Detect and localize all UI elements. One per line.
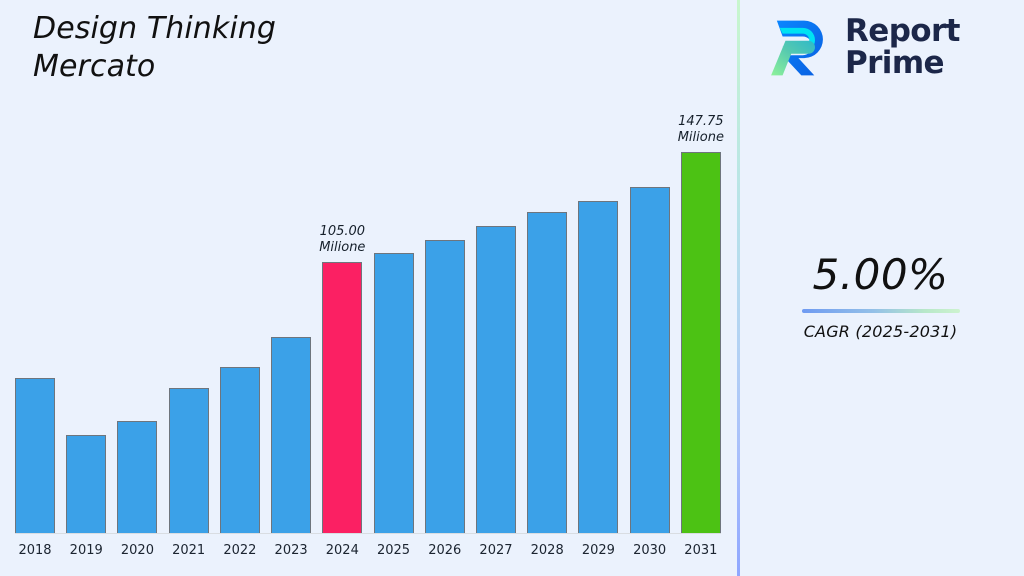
cagr-block: 5.00% CAGR (2025-2031) bbox=[737, 252, 1024, 341]
bar-2031[interactable] bbox=[681, 152, 721, 533]
x-tick-2023: 2023 bbox=[271, 537, 311, 565]
x-tick-2029: 2029 bbox=[578, 537, 618, 565]
x-tick-2020: 2020 bbox=[117, 537, 157, 565]
bar-2018[interactable] bbox=[15, 378, 55, 533]
brand-name: Report Prime bbox=[845, 16, 960, 80]
bar-slot bbox=[117, 120, 157, 533]
bar-slot bbox=[578, 120, 618, 533]
x-tick-2028: 2028 bbox=[527, 537, 567, 565]
bar-value-unit: Milione bbox=[319, 240, 365, 256]
bar-slot bbox=[476, 120, 516, 533]
bar-value-label: 147.75Milione bbox=[678, 114, 724, 146]
bar-2019[interactable] bbox=[66, 435, 106, 533]
cagr-caption: CAGR (2025-2031) bbox=[737, 322, 1024, 341]
x-tick-2021: 2021 bbox=[169, 537, 209, 565]
bar-2028[interactable] bbox=[527, 212, 567, 533]
bar-2026[interactable] bbox=[425, 240, 465, 533]
x-tick-2030: 2030 bbox=[630, 537, 670, 565]
bar-2022[interactable] bbox=[220, 367, 260, 533]
bar-2023[interactable] bbox=[271, 337, 311, 533]
bar-slot: 105.00Milione bbox=[322, 120, 362, 533]
x-tick-2025: 2025 bbox=[374, 537, 414, 565]
bar-value-number: 147.75 bbox=[678, 114, 724, 130]
cagr-divider-rule bbox=[802, 309, 960, 313]
x-tick-2031: 2031 bbox=[681, 537, 721, 565]
bar-value-label: 105.00Milione bbox=[319, 224, 365, 256]
bar-chart-plot: 105.00Milione147.75Milione bbox=[15, 120, 721, 533]
bar-2025[interactable] bbox=[374, 253, 414, 533]
x-tick-2019: 2019 bbox=[66, 537, 106, 565]
x-tick-2022: 2022 bbox=[220, 537, 260, 565]
bar-2021[interactable] bbox=[169, 388, 209, 533]
page-title: Design Thinking Mercato bbox=[33, 10, 453, 86]
report-prime-logo-icon bbox=[761, 12, 833, 84]
bar-slot bbox=[15, 120, 55, 533]
bar-value-unit: Milione bbox=[678, 130, 724, 146]
bar-slot bbox=[66, 120, 106, 533]
bar-2024[interactable] bbox=[322, 262, 362, 533]
bar-series: 105.00Milione147.75Milione bbox=[15, 120, 721, 533]
x-tick-2027: 2027 bbox=[476, 537, 516, 565]
chart-page: Design Thinking Mercato 105.00Milione147… bbox=[0, 0, 1024, 576]
bar-slot bbox=[527, 120, 567, 533]
brand-logo: Report Prime bbox=[761, 12, 960, 84]
bar-value-number: 105.00 bbox=[319, 224, 365, 240]
bar-slot bbox=[630, 120, 670, 533]
bar-slot bbox=[374, 120, 414, 533]
bar-slot bbox=[271, 120, 311, 533]
x-tick-2026: 2026 bbox=[425, 537, 465, 565]
bar-2029[interactable] bbox=[578, 201, 618, 533]
bar-slot bbox=[425, 120, 465, 533]
bar-slot bbox=[220, 120, 260, 533]
x-axis-line bbox=[15, 533, 721, 534]
x-axis-tick-labels: 2018201920202021202220232024202520262027… bbox=[15, 537, 721, 565]
brand-panel: Report Prime 5.00% CAGR (2025-2031) bbox=[737, 0, 1024, 576]
bar-slot bbox=[169, 120, 209, 533]
cagr-value: 5.00% bbox=[737, 252, 1024, 298]
bar-2020[interactable] bbox=[117, 421, 157, 533]
bar-2027[interactable] bbox=[476, 226, 516, 533]
bar-2030[interactable] bbox=[630, 187, 670, 533]
x-tick-2018: 2018 bbox=[15, 537, 55, 565]
chart-area: Design Thinking Mercato 105.00Milione147… bbox=[0, 0, 737, 576]
x-tick-2024: 2024 bbox=[322, 537, 362, 565]
bar-slot: 147.75Milione bbox=[681, 120, 721, 533]
